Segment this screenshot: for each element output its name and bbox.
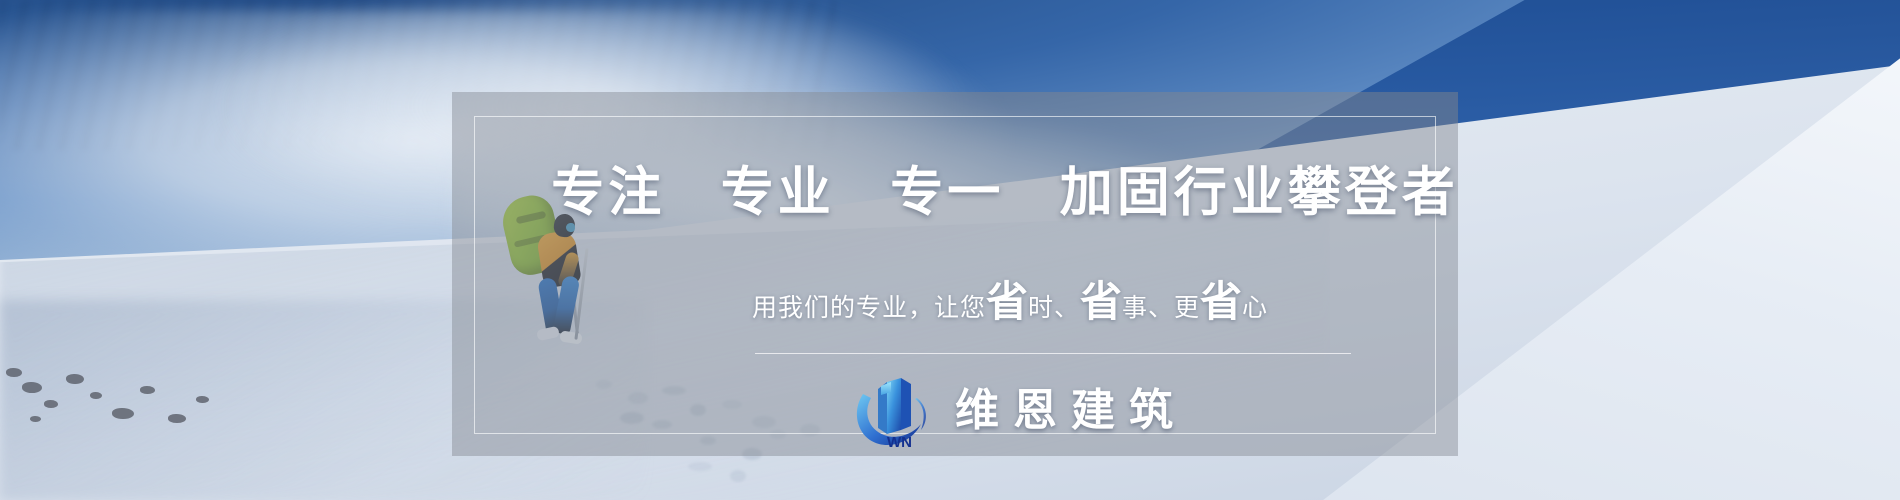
horizontal-divider [755,353,1351,354]
subheadline-emph-3: 省 [1200,278,1242,325]
brand-lockup: WN 维恩建筑 [723,372,1187,450]
subheadline-emph-2: 省 [1080,278,1122,325]
wn-monogram-logo-icon: WN [851,372,937,450]
subheadline: 用我们的专业，让您省时、省事、更省心 [642,281,1268,323]
headline-part-3: 专一 [890,163,1004,222]
headline-part-2: 专业 [721,163,835,222]
subheadline-small-2: 事、更 [1122,294,1200,322]
subheadline-lead: 用我们的专业，让您 [752,294,986,322]
brand-name: 维恩建筑 [955,389,1187,433]
subheadline-small-3: 心 [1242,294,1268,322]
subheadline-emph-1: 省 [986,278,1028,325]
overlay-panel: 专注 专业 专一 加固行业攀登者 用我们的专业，让您省时、省事、更省心 [452,92,1458,456]
subheadline-small-1: 时、 [1028,294,1080,322]
svg-text:WN: WN [887,434,912,450]
headline-part-4: 加固行业攀登者 [1060,163,1459,222]
headline: 专注 专业 专一 加固行业攀登者 [451,166,1458,219]
hero-banner: 专注 专业 专一 加固行业攀登者 用我们的专业，让您省时、省事、更省心 [0,0,1900,500]
panel-content: 专注 专业 专一 加固行业攀登者 用我们的专业，让您省时、省事、更省心 [452,92,1458,456]
headline-part-1: 专注 [551,163,665,222]
